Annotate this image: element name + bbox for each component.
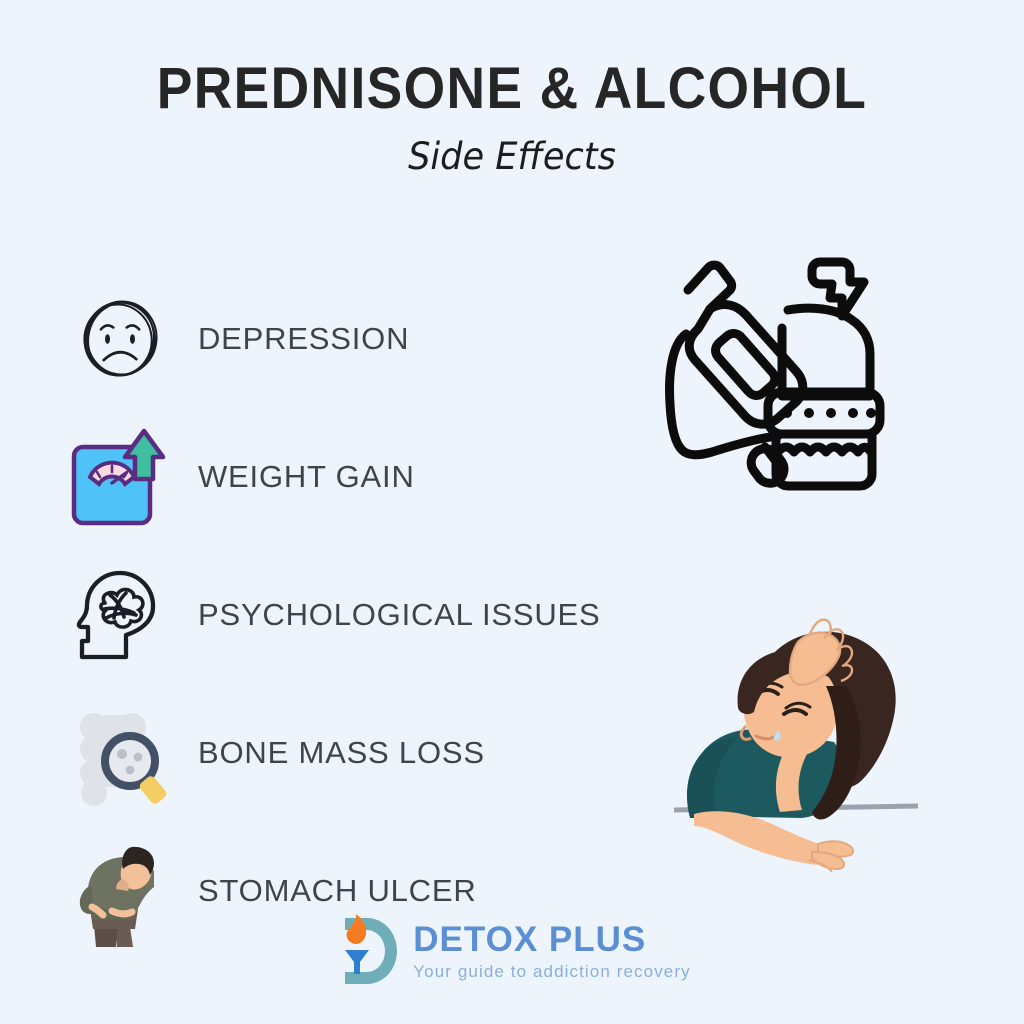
logo-name: DETOX PLUS [413,921,690,959]
bone-magnifier-icon [60,693,180,813]
list-item: DEPRESSION [60,270,660,408]
detox-plus-torch-icon [333,912,407,990]
list-item-label: PSYCHOLOGICAL ISSUES [198,597,600,633]
logo-tagline: Your guide to addiction recovery [413,962,690,982]
sad-woman-head-in-hand-illustration [660,604,950,886]
brand-logo[interactable]: DETOX PLUS Your guide to addiction recov… [0,912,1024,990]
page-title: PREDNISONE & ALCOHOL [41,58,983,120]
sad-face-icon [60,279,180,399]
side-effects-list: DEPRESSION WEIGHT GAIN [60,270,660,960]
logo-text-block: DETOX PLUS Your guide to addiction recov… [413,921,690,982]
list-item-label: STOMACH ULCER [198,873,477,909]
list-item-label: BONE MASS LOSS [198,735,485,771]
header: PREDNISONE & ALCOHOL Side Effects [0,58,1024,178]
list-item: BONE MASS LOSS [60,684,660,822]
infographic-canvas: PREDNISONE & ALCOHOL Side Effects [0,0,1024,1024]
alcohol-bottle-and-pill-bottle-illustration [664,246,920,496]
list-item: PSYCHOLOGICAL ISSUES [60,546,660,684]
list-item-label: DEPRESSION [198,321,409,357]
weight-scale-icon [60,417,180,537]
head-tangled-brain-icon [60,555,180,675]
list-item: WEIGHT GAIN [60,408,660,546]
page-subtitle: Side Effects [26,136,999,178]
list-item-label: WEIGHT GAIN [198,459,415,495]
